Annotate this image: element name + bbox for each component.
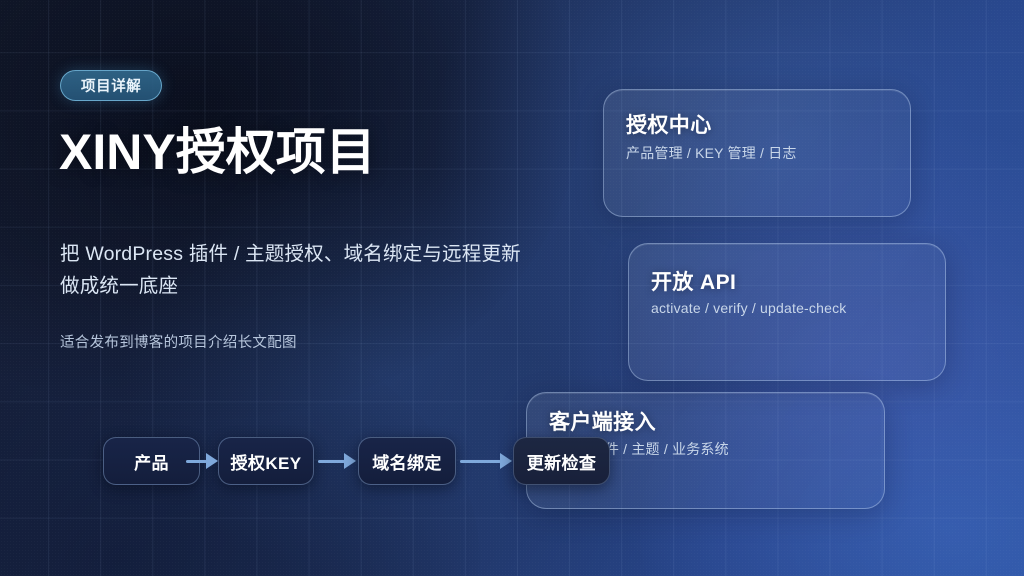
card-auth-center: 授权中心 产品管理 / KEY 管理 / 日志 xyxy=(603,89,911,217)
flow-step-update-check: 更新检查 xyxy=(513,437,610,485)
flow-arrow-2-icon xyxy=(318,451,358,471)
hero-lede: 把 WordPress 插件 / 主题授权、域名绑定与远程更新做成统一底座 xyxy=(60,238,540,302)
page-title: XINY授权项目 xyxy=(59,122,376,182)
flow-step-license-key: 授权KEY xyxy=(218,437,314,485)
eyebrow-badge-label: 项目详解 xyxy=(81,75,141,96)
flow-step-product-label: 产品 xyxy=(134,449,169,474)
flow-step-domain-binding: 域名绑定 xyxy=(358,437,456,485)
flow-step-update-check-label: 更新检查 xyxy=(527,449,597,474)
flow-step-license-key-label: 授权KEY xyxy=(231,449,302,474)
flow-arrow-1-icon xyxy=(186,451,220,471)
card-auth-center-subtitle: 产品管理 / KEY 管理 / 日志 xyxy=(626,143,797,163)
card-open-api-subtitle: activate / verify / update-check xyxy=(651,300,847,316)
card-open-api: 开放 API activate / verify / update-check xyxy=(628,243,946,381)
hero-caption: 适合发布到博客的项目介绍长文配图 xyxy=(60,331,297,352)
card-open-api-title: 开放 API xyxy=(651,266,736,296)
card-client-access-title: 客户端接入 xyxy=(549,406,656,436)
eyebrow-badge: 项目详解 xyxy=(60,70,162,101)
card-auth-center-title: 授权中心 xyxy=(626,109,712,139)
slide-canvas: 项目详解 XINY授权项目 把 WordPress 插件 / 主题授权、域名绑定… xyxy=(0,0,1024,576)
flow-arrow-3-icon xyxy=(460,451,514,471)
flow-step-domain-binding-label: 域名绑定 xyxy=(372,449,442,474)
